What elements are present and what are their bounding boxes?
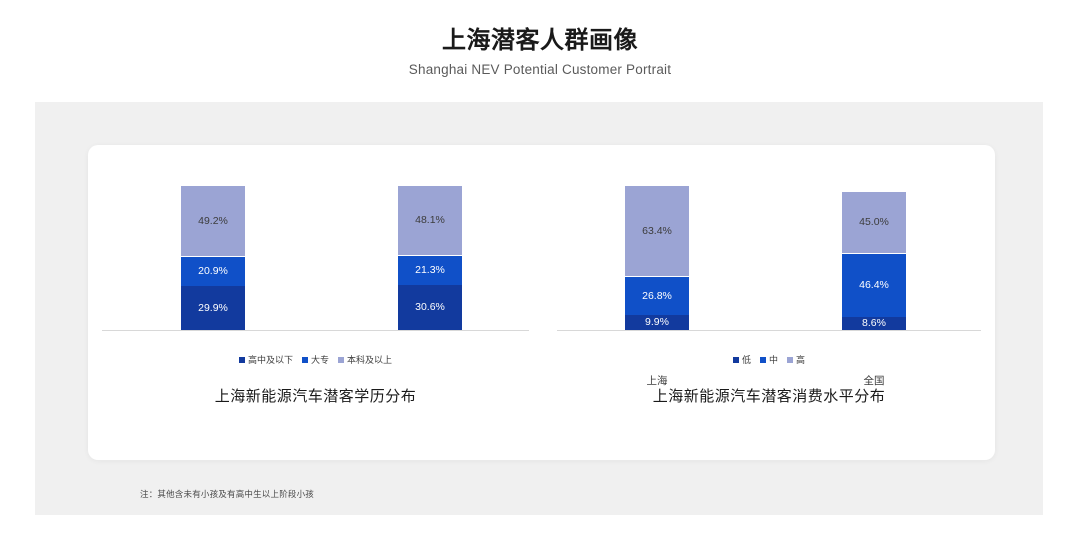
legend-item[interactable]: 本科及以上 <box>338 353 392 366</box>
legend-label: 本科及以上 <box>347 353 392 366</box>
page-subtitle: Shanghai NEV Potential Customer Portrait <box>0 60 1080 80</box>
bar-segment: 9.9% <box>625 315 689 330</box>
legend-item[interactable]: 大专 <box>302 353 329 366</box>
chart-legend: 低 中 高 <box>543 353 995 366</box>
axis-line <box>557 330 981 331</box>
legend-label: 高中及以下 <box>248 353 293 366</box>
footnote: 注：其他含未有小孩及有高中生以上阶段小孩 <box>140 488 314 500</box>
bar-segment: 30.6% <box>398 285 462 330</box>
bar-segment: 46.4% <box>842 253 906 317</box>
bar-segment: 29.9% <box>181 286 245 330</box>
legend-swatch-icon <box>302 357 308 363</box>
plot-area-right: 63.4% 26.8% 9.9% 45.0% 46.4% 8.6% 上海 全国 <box>543 185 995 330</box>
slide-panel: 49.2% 20.9% 29.9% 48.1% 21.3% 30.6% 高中及以… <box>35 102 1043 515</box>
bar-segment: 49.2% <box>181 185 245 256</box>
bar-segment: 8.6% <box>842 317 906 330</box>
chart-education-distribution: 49.2% 20.9% 29.9% 48.1% 21.3% 30.6% 高中及以… <box>88 145 543 460</box>
stacked-bar[interactable]: 48.1% 21.3% 30.6% <box>398 185 462 330</box>
bar-segment: 45.0% <box>842 191 906 253</box>
legend-swatch-icon <box>338 357 344 363</box>
page-header: 上海潜客人群画像 Shanghai NEV Potential Customer… <box>0 26 1080 80</box>
stacked-bar[interactable]: 49.2% 20.9% 29.9% <box>181 185 245 330</box>
bar-segment: 63.4% <box>625 185 689 276</box>
bar-segment: 20.9% <box>181 256 245 286</box>
plot-area-left: 49.2% 20.9% 29.9% 48.1% 21.3% 30.6% <box>88 185 543 330</box>
legend-label: 大专 <box>311 353 329 366</box>
legend-swatch-icon <box>239 357 245 363</box>
bar-segment: 21.3% <box>398 255 462 285</box>
legend-item[interactable]: 高 <box>787 353 805 366</box>
legend-label: 低 <box>742 353 751 366</box>
legend-swatch-icon <box>733 357 739 363</box>
charts-card: 49.2% 20.9% 29.9% 48.1% 21.3% 30.6% 高中及以… <box>88 145 995 460</box>
chart-legend: 高中及以下 大专 本科及以上 <box>88 353 543 366</box>
legend-swatch-icon <box>787 357 793 363</box>
stacked-bar[interactable]: 63.4% 26.8% 9.9% <box>625 185 689 330</box>
legend-label: 高 <box>796 353 805 366</box>
chart-caption: 上海新能源汽车潜客消费水平分布 <box>543 385 995 406</box>
axis-line <box>102 330 529 331</box>
stacked-bar[interactable]: 45.0% 46.4% 8.6% <box>842 191 906 330</box>
bar-segment: 26.8% <box>625 276 689 315</box>
chart-consumption-level-distribution: 63.4% 26.8% 9.9% 45.0% 46.4% 8.6% 上海 全国 … <box>543 145 995 460</box>
legend-item[interactable]: 低 <box>733 353 751 366</box>
bar-segment: 48.1% <box>398 185 462 255</box>
legend-item[interactable]: 中 <box>760 353 778 366</box>
legend-swatch-icon <box>760 357 766 363</box>
legend-item[interactable]: 高中及以下 <box>239 353 293 366</box>
legend-label: 中 <box>769 353 778 366</box>
page-title: 上海潜客人群画像 <box>0 26 1080 56</box>
chart-caption: 上海新能源汽车潜客学历分布 <box>88 385 543 406</box>
